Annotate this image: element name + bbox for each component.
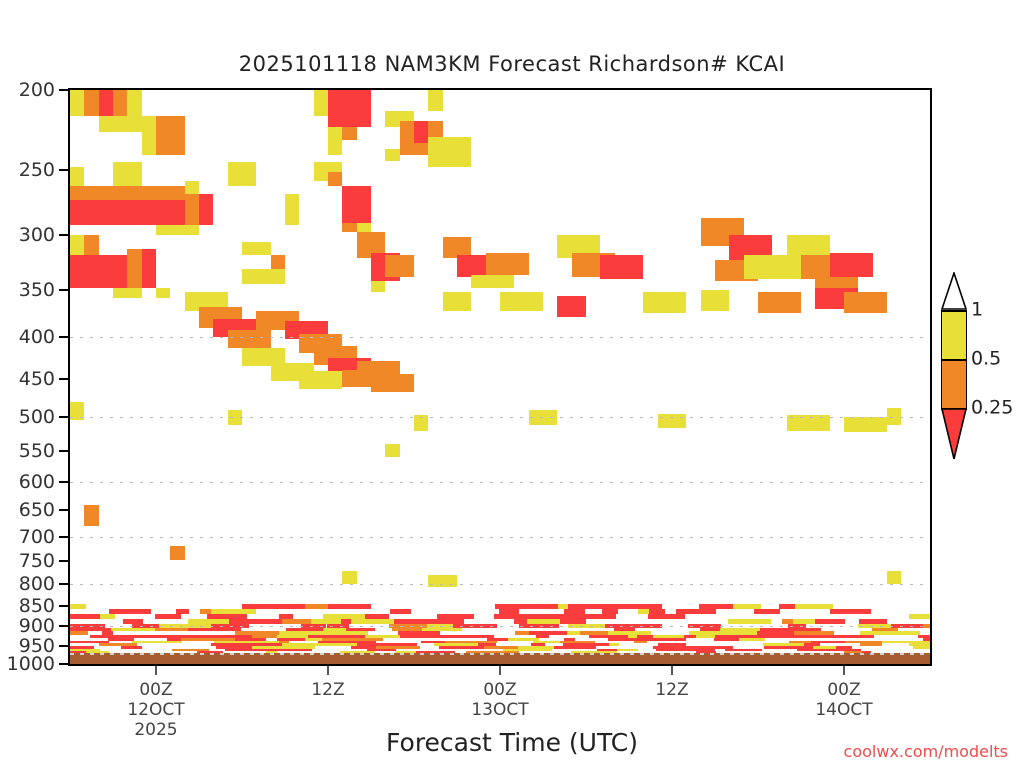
x-axis-tick-label: 12Z <box>655 680 688 700</box>
x-axis-tick-label-line: 12Z <box>655 680 688 700</box>
x-axis-tick-label: 12Z <box>311 680 344 700</box>
x-axis-tick-label-line: 12OCT <box>127 700 184 720</box>
colorbar-label: 0.25 <box>971 397 1013 419</box>
colorbar-arrow-bottom <box>941 408 967 460</box>
x-axis-tick-label-line: 00Z <box>471 680 528 700</box>
x-axis-tick-label-line: 13OCT <box>471 700 528 720</box>
x-axis: 00Z12OCT202512Z00Z13OCT12Z00Z14OCT <box>0 0 1024 768</box>
x-axis-tick <box>843 666 845 675</box>
colorbar-segment-yellow <box>941 310 967 359</box>
x-axis-tick-label: 00Z13OCT <box>471 680 528 720</box>
colorbar-label: 1 <box>971 299 983 321</box>
watermark: coolwx.com/modelts <box>844 742 1008 761</box>
chart-canvas: 2025101118 NAM3KM Forecast Richardson# K… <box>0 0 1024 768</box>
colorbar-divider <box>941 359 967 361</box>
colorbar-segment-orange <box>941 359 967 408</box>
x-axis-tick <box>327 666 329 675</box>
colorbar-arrow-top <box>941 272 967 310</box>
colorbar-divider <box>941 310 967 312</box>
x-axis-tick-label-line: 00Z <box>127 680 184 700</box>
colorbar-label: 0.5 <box>971 348 1001 370</box>
colorbar-legend: 10.50.25 <box>941 310 967 458</box>
x-axis-tick-label-line: 14OCT <box>815 700 872 720</box>
x-axis-tick-label: 00Z14OCT <box>815 680 872 720</box>
x-axis-tick <box>499 666 501 675</box>
x-axis-tick <box>671 666 673 675</box>
x-axis-tick <box>155 666 157 675</box>
x-axis-tick-label-line: 00Z <box>815 680 872 700</box>
x-axis-tick-label-line: 12Z <box>311 680 344 700</box>
